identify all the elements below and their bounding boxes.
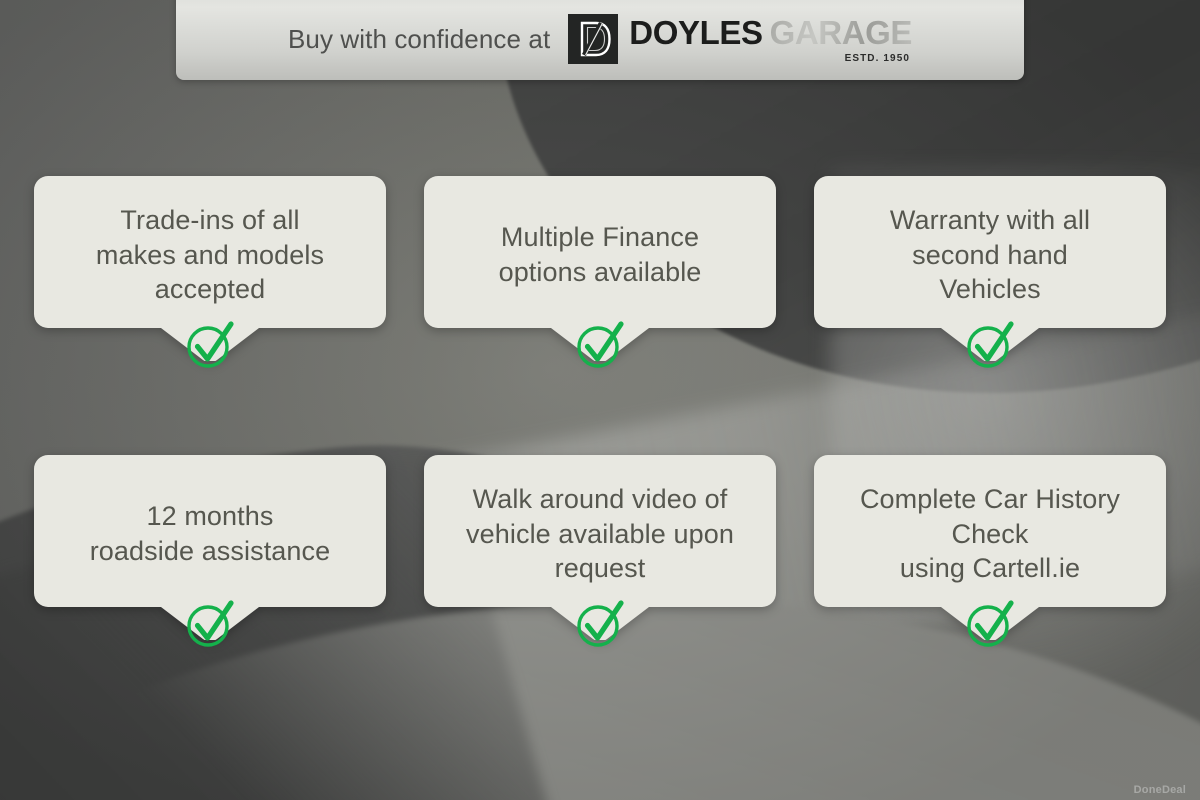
logo-established-text: ESTD. 1950 <box>845 53 910 64</box>
logo-word-row: DOYLES GARAGE <box>629 14 912 52</box>
green-check-circle-icon <box>571 316 629 374</box>
green-check-circle-icon <box>961 595 1019 653</box>
feature-card: Complete Car History Check using Cartell… <box>814 455 1166 640</box>
green-check-circle-icon <box>181 316 239 374</box>
feature-card: Warranty with all second hand Vehicles <box>814 176 1166 361</box>
logo-wordmark: DOYLES GARAGE ESTD. 1950 <box>629 14 912 64</box>
features-grid: Trade-ins of all makes and models accept… <box>0 0 1200 800</box>
logo-word-doyles: DOYLES <box>629 14 762 52</box>
banner-content: Buy with confidence at DOYLES GARAGE EST… <box>288 14 912 64</box>
banner-lead-text: Buy with confidence at <box>288 24 550 55</box>
card-text: Trade-ins of all makes and models accept… <box>34 176 386 328</box>
feature-card: Walk around video of vehicle available u… <box>424 455 776 640</box>
green-check-circle-icon <box>181 595 239 653</box>
card-text: 12 months roadside assistance <box>34 455 386 607</box>
feature-card: 12 months roadside assistance <box>34 455 386 640</box>
doyles-garage-logo: DOYLES GARAGE ESTD. 1950 <box>568 14 912 64</box>
confidence-banner: Buy with confidence at DOYLES GARAGE EST… <box>176 0 1024 80</box>
card-text: Complete Car History Check using Cartell… <box>814 455 1166 607</box>
card-text: Multiple Finance options available <box>424 176 776 328</box>
feature-card: Trade-ins of all makes and models accept… <box>34 176 386 361</box>
green-check-circle-icon <box>571 595 629 653</box>
logo-word-garage: GARAGE <box>770 14 912 52</box>
donedeal-watermark: DoneDeal <box>1134 784 1186 796</box>
logo-d-badge-icon <box>568 14 618 64</box>
card-text: Walk around video of vehicle available u… <box>424 455 776 607</box>
green-check-circle-icon <box>961 316 1019 374</box>
card-text: Warranty with all second hand Vehicles <box>814 176 1166 328</box>
feature-card: Multiple Finance options available <box>424 176 776 361</box>
